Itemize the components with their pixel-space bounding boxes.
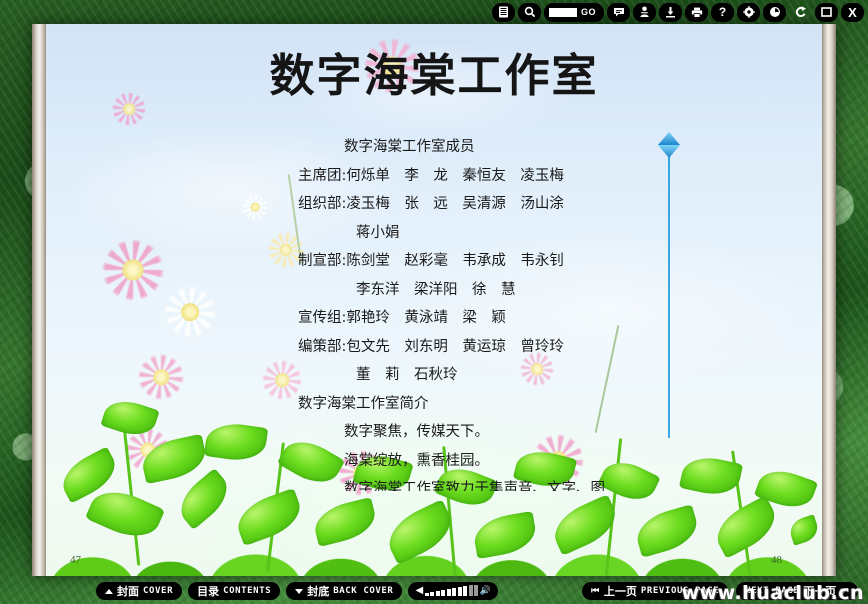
book-viewer[interactable]: 数字海棠工作室 数字海棠工作室成员主席团:何烁单 李 龙 秦恒友 凌玉梅组织部:… <box>32 24 836 576</box>
volume-bar[interactable] <box>458 587 462 596</box>
next-page-label-en: NEXT PAGE <box>745 586 799 596</box>
body-line: 编策部:包文先 刘东明 黄运琼 曾玲玲 <box>298 333 628 362</box>
bottom-toolbar: 封面 COVER 目录 CONTENTS 封底 BACK COVER ◀ 🔊 ⏮… <box>0 578 868 604</box>
thumbnails-icon[interactable] <box>492 3 515 22</box>
body-line: 组织部:凌玉梅 张 远 吴清源 汤山涂 <box>298 190 628 219</box>
chevron-down-icon <box>295 589 303 594</box>
body-line: 制宣部:陈剑堂 赵彩毫 韦承成 韦永钊 <box>298 247 628 276</box>
body-line: 海棠绽放，熏香桂园。 <box>298 447 628 476</box>
volume-bar[interactable] <box>441 590 445 596</box>
book-spine-right <box>822 24 836 576</box>
print-icon[interactable] <box>685 3 708 22</box>
goto-page-label: GO <box>581 7 596 17</box>
body-line: 宣传组:郭艳玲 黄泳靖 梁 颖 <box>298 304 628 333</box>
volume-bar[interactable] <box>452 588 456 596</box>
cover-button-label-cn: 封面 <box>117 583 139 599</box>
volume-bar[interactable] <box>474 585 478 597</box>
skip-back-icon: ⏮ <box>591 586 600 596</box>
book-page[interactable]: 数字海棠工作室 数字海棠工作室成员主席团:何烁单 李 龙 秦恒友 凌玉梅组织部:… <box>46 24 822 576</box>
user-icon[interactable] <box>633 3 656 22</box>
page-body-text: 数字海棠工作室成员主席团:何烁单 李 龙 秦恒友 凌玉梅组织部:凌玉梅 张 远 … <box>298 133 628 491</box>
cover-button[interactable]: 封面 COVER <box>96 582 182 600</box>
settings-icon[interactable] <box>737 3 760 22</box>
contents-button[interactable]: 目录 CONTENTS <box>188 582 280 600</box>
body-line: 数字海棠工作室成员 <box>298 133 628 162</box>
page-scrollbar-track[interactable] <box>668 148 670 438</box>
contents-button-label-cn: 目录 <box>197 583 219 599</box>
page-scrollbar-thumb[interactable] <box>658 132 680 158</box>
decor-flower <box>102 239 164 301</box>
previous-page-label-en: PREVIOUS PAGE <box>641 586 719 596</box>
chevron-up-icon <box>105 589 113 594</box>
page-number-left: 47 <box>70 554 81 566</box>
refresh-icon[interactable] <box>789 3 812 22</box>
back-cover-button-label-cn: 封底 <box>307 583 329 599</box>
speaker-icon: ◀ <box>415 586 423 596</box>
search-icon[interactable] <box>518 3 541 22</box>
volume-bar[interactable] <box>425 593 429 596</box>
body-line: 主席团:何烁单 李 龙 秦恒友 凌玉梅 <box>298 162 628 191</box>
book-spine-left <box>32 24 46 576</box>
back-cover-button-label-en: BACK COVER <box>333 586 393 596</box>
top-toolbar: GO ? X <box>0 0 868 24</box>
clock-icon[interactable] <box>763 3 786 22</box>
download-icon[interactable] <box>659 3 682 22</box>
close-icon[interactable]: X <box>841 3 864 22</box>
help-icon[interactable]: ? <box>711 3 734 22</box>
next-page-button[interactable]: NEXT PAGE 下一页 ⏭ <box>736 582 858 600</box>
body-line: 数字聚焦，传媒天下。 <box>298 418 628 447</box>
cover-button-label-en: COVER <box>143 586 173 596</box>
maximize-icon[interactable] <box>815 3 838 22</box>
body-line: 董 莉 石秋玲 <box>298 361 628 390</box>
previous-page-button[interactable]: ⏮ 上一页 PREVIOUS PAGE <box>582 582 728 600</box>
volume-bar[interactable] <box>436 591 440 596</box>
body-line: 数字海棠工作室简介 <box>298 390 628 419</box>
decor-flower <box>164 286 216 338</box>
page-number-right: 48 <box>771 554 782 566</box>
volume-bar[interactable] <box>469 585 473 596</box>
body-line: 李东洋 梁洋阳 徐 慧 <box>298 276 628 305</box>
volume-bar[interactable] <box>463 586 467 596</box>
volume-bar[interactable] <box>447 589 451 596</box>
page-title: 数字海棠工作室 <box>46 54 822 99</box>
skip-forward-icon: ⏭ <box>840 586 849 596</box>
volume-slider[interactable]: ◀ 🔊 <box>408 582 497 600</box>
next-page-label-cn: 下一页 <box>803 583 836 599</box>
decor-flower <box>242 194 268 220</box>
goto-page-input[interactable] <box>548 7 578 18</box>
speaker-on-icon[interactable]: 🔊 <box>480 586 491 595</box>
back-cover-button[interactable]: 封底 BACK COVER <box>286 582 402 600</box>
body-line: 数字海棠工作室致力于集声音、文字、图 <box>298 475 628 491</box>
goto-page-box[interactable]: GO <box>544 3 604 22</box>
comment-icon[interactable] <box>607 3 630 22</box>
volume-bar[interactable] <box>430 592 434 596</box>
previous-page-label-cn: 上一页 <box>604 583 637 599</box>
contents-button-label-en: CONTENTS <box>223 586 271 596</box>
body-line: 蒋小娟 <box>298 219 628 248</box>
